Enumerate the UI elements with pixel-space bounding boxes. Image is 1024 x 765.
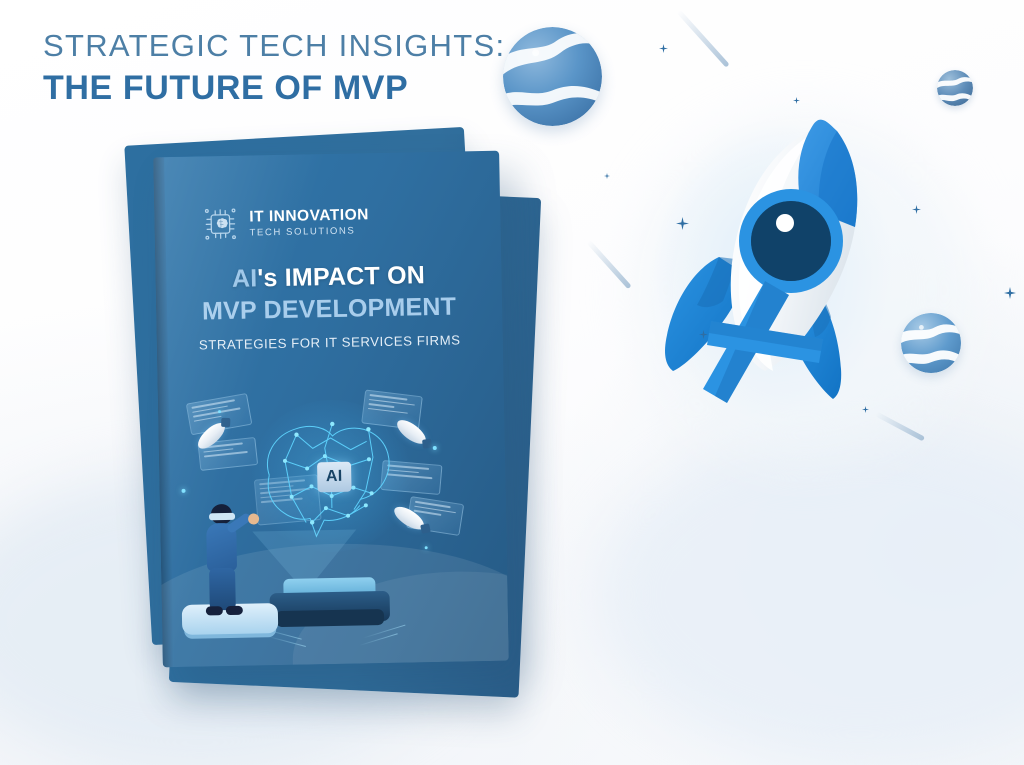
- sparkle-star-icon: [659, 44, 668, 53]
- planet-small: [937, 70, 973, 106]
- background-blob-right: [600, 430, 1024, 760]
- porthole-glint: [776, 214, 794, 232]
- cover-gloss: [153, 151, 509, 668]
- rocket-icon: [641, 101, 903, 433]
- planet-medium: [901, 313, 961, 373]
- poster-canvas: STRATEGIC TECH INSIGHTS: THE FUTURE OF M…: [0, 0, 1024, 765]
- planet-large: [503, 27, 602, 126]
- planet-medium-bands: [901, 313, 961, 373]
- planet-small-bands: [937, 70, 973, 106]
- sparkle-star-icon: [604, 173, 610, 179]
- book-stack: IT INNOVATION TECH SOLUTIONS AI's IMPACT…: [118, 128, 588, 698]
- porthole-window-depth: [751, 201, 831, 281]
- planet-large-bands: [503, 27, 602, 126]
- sparkle-star-icon: [912, 205, 921, 214]
- book-front-cover: IT INNOVATION TECH SOLUTIONS AI's IMPACT…: [153, 151, 509, 668]
- comet-trail-icon: [676, 9, 729, 67]
- comet-trail-icon: [586, 240, 631, 289]
- sparkle-star-icon: [1004, 287, 1016, 299]
